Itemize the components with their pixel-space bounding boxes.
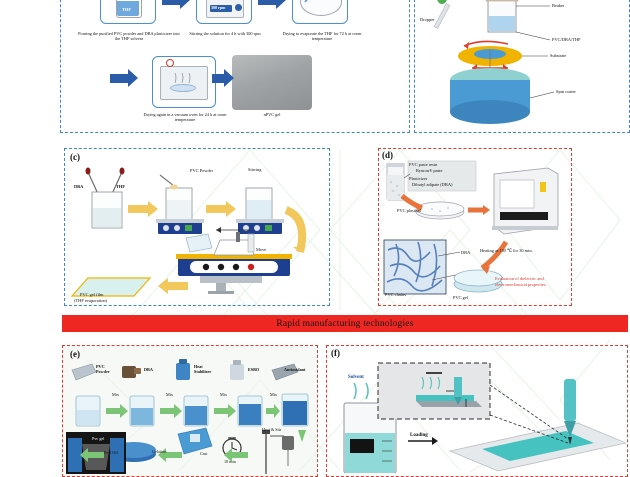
ingredient-icon-dba — [122, 366, 141, 378]
panel-a-step4-caption: Drying again in a vacuum oven for 24 h a… — [140, 112, 230, 123]
pvc-resin-jar — [386, 163, 405, 200]
panel-c-illustration — [70, 160, 326, 302]
arrow-a-4 — [212, 74, 224, 83]
arrow-a-3 — [110, 74, 128, 83]
ingredient-label-1: DBA — [144, 367, 153, 372]
panel-f-label: (f) — [331, 348, 340, 358]
dropper-label: Dropper — [420, 17, 435, 22]
mixture-label: PVC/DBA/THF — [552, 37, 581, 42]
panel-e-label: (e) — [70, 349, 80, 359]
mix-beaker-5 — [282, 394, 308, 426]
pvc-gel-label-e: Pvc gel — [92, 436, 104, 441]
mix-label-1: Mix — [112, 392, 119, 397]
thf-beaker-label: THF — [122, 7, 131, 12]
pvc-paste-resin-line1: PVC paste resin — [409, 162, 437, 167]
thf-pipette-icon — [112, 168, 125, 195]
rapid-manufacturing-banner: Rapid manufacturing technologies — [62, 315, 628, 332]
pvc-gel-label-d: PVC gel — [453, 295, 468, 300]
panel-c-beaker-1 — [92, 192, 122, 228]
cast-label: Cast — [200, 451, 207, 456]
arrow-a-1-head — [180, 0, 190, 9]
npvc-gel-photo — [232, 55, 312, 110]
panel-d-label: (d) — [382, 150, 393, 160]
dropper-icon — [434, 0, 450, 28]
dba-label-d: DBA — [461, 250, 470, 255]
thf-label: THF — [116, 184, 125, 189]
dba-label: DBA — [74, 184, 83, 189]
plasticizer-line2: Dibutyl adipate (DBA) — [412, 182, 452, 187]
panel-a-step1-caption: Pouring the purified PVC powder and DBA … — [78, 31, 180, 42]
mix-label-3: Mix — [220, 392, 227, 397]
panel-c-hotplate-2 — [236, 188, 284, 234]
mix-beaker-2 — [130, 396, 154, 426]
ingredient-icon-esbo — [230, 360, 244, 380]
panel-c-arrow-2 — [206, 201, 236, 217]
solution-swirl-icon — [303, 0, 337, 8]
mix-label-4: Mix — [270, 392, 277, 397]
ingredient-icon-heat-stabilizer — [176, 359, 190, 380]
loading-label: Loading — [410, 433, 428, 439]
spin-coater-label: Spin coater — [556, 89, 576, 94]
heat-stir-label: Heat & Stir — [262, 427, 281, 432]
dba-pipette-icon — [86, 168, 99, 195]
arrow-a-2-head — [276, 0, 286, 9]
ingredient-label-3: ESBO — [248, 367, 259, 372]
timer-label: 10 min — [224, 459, 236, 464]
arrow-a-1 — [162, 0, 180, 5]
pvc-chains-label: PVC chains — [385, 292, 406, 297]
arrow-a-3-head — [128, 69, 138, 87]
spin-coater-icon — [450, 68, 530, 124]
panel-a-step5-caption: nPVC gel — [248, 112, 296, 117]
vapor-icon — [172, 72, 196, 84]
mix-beaker-4 — [238, 396, 262, 426]
arrow-a-2 — [258, 0, 276, 5]
print-substrate-platform — [450, 423, 626, 471]
beaker-icon — [486, 0, 518, 32]
evaluation-label: Evaluation of dielectric and electromech… — [495, 276, 551, 288]
heat-stir-apparatus — [262, 430, 306, 474]
pvc-chains-micrograph — [384, 240, 446, 294]
ingredient-icon-pvc-powder — [72, 364, 96, 380]
pvc-powder-label-c: PVC Powder — [190, 168, 214, 173]
pvc-gel-film-label-line1: PVC gel film — [80, 292, 103, 297]
panel-e-illustration — [66, 358, 316, 474]
pvc-plastisol-dish — [416, 202, 464, 219]
ingredient-label-2: Heat Stabilizer — [194, 364, 220, 374]
heating-oven — [492, 168, 558, 234]
mix-label-2: Mix — [166, 392, 173, 397]
panel-b-illustration — [420, 0, 620, 130]
pvc-gel-film-label-line2: (THF evaporation) — [74, 298, 107, 303]
plasticizer-line1: Plasticizer — [409, 176, 427, 181]
panel-c-arrow-1 — [128, 201, 158, 217]
gelation-label: Gelation — [152, 449, 166, 454]
mix-beaker-3 — [184, 396, 208, 426]
substrate-label: Substrate — [550, 53, 566, 58]
solvent-label: Solvent — [348, 375, 364, 381]
peel-off-label: Peel Off — [104, 450, 118, 455]
move-label: Move — [256, 247, 266, 252]
panel-a-step2-caption: Stirring the solution for 4 h with 300 r… — [182, 31, 268, 36]
film-coater-machine — [176, 232, 292, 294]
arrow-a-4-head — [224, 69, 234, 87]
ingredient-label-4: Antioxidant — [284, 367, 305, 372]
nozzle-detail-inset — [378, 363, 490, 419]
magnetic-stirrer-rpm-readout: 300 rpm — [211, 6, 225, 11]
heating-label: Heating at 150 ℃ for 30 min. — [480, 248, 533, 253]
panel-f-illustration — [330, 355, 626, 473]
mix-beaker-1 — [76, 396, 100, 426]
ingredient-label-0: PVC Powder — [96, 364, 118, 374]
panel-c-hotplate-1 — [156, 175, 204, 234]
pvc-paste-resin-line2: Ryuron® paste — [416, 168, 442, 173]
beaker-label: Beaker — [552, 3, 564, 8]
stirring-label: Stirring — [248, 167, 261, 172]
panel-c-label: (c) — [70, 152, 80, 162]
panel-c-arrow-3 — [158, 278, 188, 294]
pvc-plastisol-label: PVC plastisol — [397, 208, 421, 213]
panel-a-step3-caption: Drying to evaporate the THF for 72 h at … — [276, 31, 368, 42]
rapid-manufacturing-banner-text: Rapid manufacturing technologies — [276, 319, 413, 329]
